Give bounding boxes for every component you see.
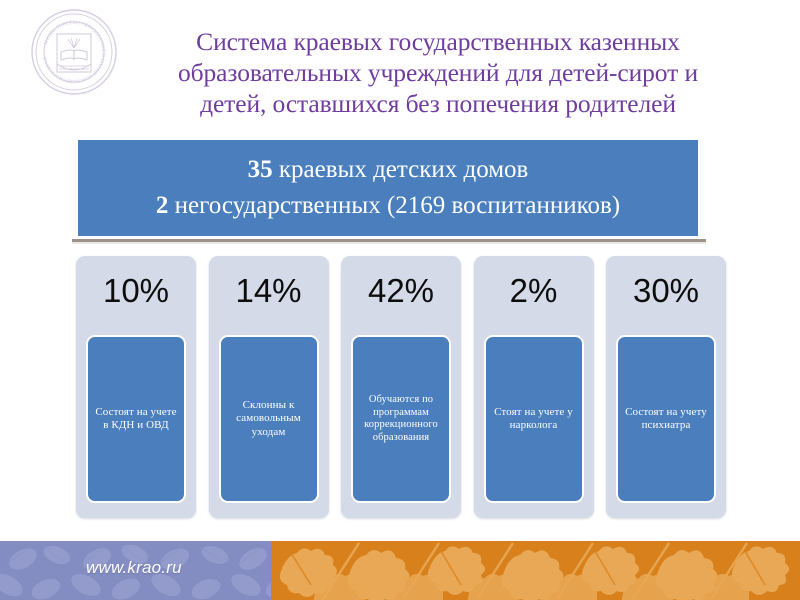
card-percent: 14% <box>235 272 301 310</box>
card-percent: 10% <box>103 272 169 310</box>
summary-banner: 35 краевых детских домов 2 негосударстве… <box>78 140 698 236</box>
footer-url[interactable]: www.krao.ru <box>86 558 182 578</box>
krao-seal-logo: МИНИСТЕРСТВО ОБРАЗОВАНИЯ И НАУКИ КРАСНОЯ… <box>30 8 118 96</box>
banner-homes-text: краевых детских домов <box>273 156 529 183</box>
card-label: Склонны к самовольным уходам <box>226 399 312 440</box>
card-label: Состоят на учету психиатра <box>623 406 709 433</box>
statistic-card[interactable]: 10% Состоят на учете в КДН и ОВД <box>76 256 196 518</box>
card-percent: 30% <box>633 272 699 310</box>
banner-nonstate-text: негосударственных (2169 воспитанников) <box>168 192 620 219</box>
footer-orange-band <box>271 541 800 600</box>
card-panel: Состоят на учету психиатра <box>616 335 716 503</box>
statistic-cards-row: 10% Состоят на учете в КДН и ОВД 14% Скл… <box>76 256 726 518</box>
card-percent: 42% <box>368 272 434 310</box>
title-line-2: образовательных учреждений для детей-сир… <box>108 57 768 88</box>
title-line-3: детей, оставшихся без попечения родителе… <box>108 88 768 119</box>
statistic-card[interactable]: 30% Состоят на учету психиатра <box>606 256 726 518</box>
banner-line-1: 35 краевых детских домов <box>248 152 529 188</box>
slide-canvas: МИНИСТЕРСТВО ОБРАЗОВАНИЯ И НАУКИ КРАСНОЯ… <box>0 0 800 600</box>
card-panel: Стоят на учете у нарколога <box>484 335 584 503</box>
slide-title: Система краевых государственных казенных… <box>108 26 768 119</box>
statistic-card[interactable]: 2% Стоят на учете у нарколога <box>474 256 594 518</box>
card-label: Состоят на учете в КДН и ОВД <box>93 406 179 433</box>
card-panel: Состоят на учете в КДН и ОВД <box>86 335 186 503</box>
horizontal-divider-shadow <box>72 242 706 244</box>
banner-nonstate-count: 2 <box>156 192 169 219</box>
statistic-card[interactable]: 14% Склонны к самовольным уходам <box>209 256 329 518</box>
card-percent: 2% <box>510 272 558 310</box>
slide-footer: www.krao.ru <box>0 541 800 600</box>
card-label: Стоят на учете у нарколога <box>491 406 577 433</box>
banner-homes-count: 35 <box>248 156 273 183</box>
banner-line-2: 2 негосударственных (2169 воспитанников) <box>156 188 620 224</box>
card-panel: Обучаются по программам коррекционного о… <box>351 335 451 503</box>
card-panel: Склонны к самовольным уходам <box>219 335 319 503</box>
title-line-1: Система краевых государственных казенных <box>108 26 768 57</box>
card-label: Обучаются по программам коррекционного о… <box>358 394 444 444</box>
oak-leaf-pattern-icon <box>271 541 800 600</box>
statistic-card[interactable]: 42% Обучаются по программам коррекционно… <box>341 256 461 518</box>
